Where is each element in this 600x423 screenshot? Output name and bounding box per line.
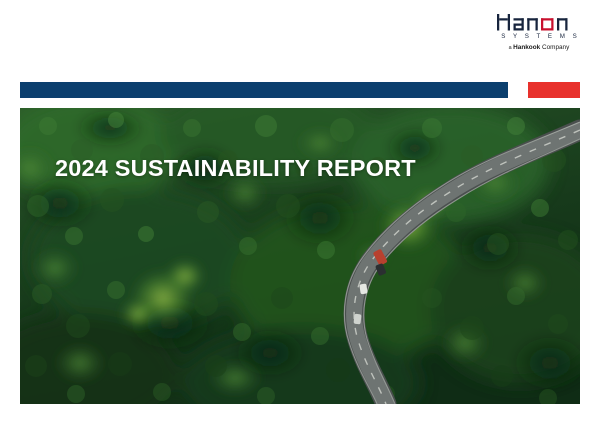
logo-systems-text: S Y S T E M S bbox=[497, 33, 581, 41]
logo-tagline: a Hankook Company bbox=[497, 44, 581, 52]
page-title: 2024 SUSTAINABILITY REPORT bbox=[55, 155, 416, 182]
logo-tagline-suffix: Company bbox=[540, 44, 569, 51]
logo-tagline-brand: Hankook bbox=[513, 44, 540, 51]
cover-hero-image: 2024 SUSTAINABILITY REPORT bbox=[20, 108, 580, 404]
cover-page: S Y S T E M S a Hankook Company bbox=[0, 0, 600, 423]
accent-bar-secondary bbox=[528, 82, 580, 98]
accent-bar-primary bbox=[20, 82, 508, 98]
hanon-systems-logo: S Y S T E M S a Hankook Company bbox=[497, 14, 581, 52]
hanon-wordmark-icon bbox=[497, 14, 581, 31]
forest-aerial-illustration bbox=[20, 108, 580, 404]
